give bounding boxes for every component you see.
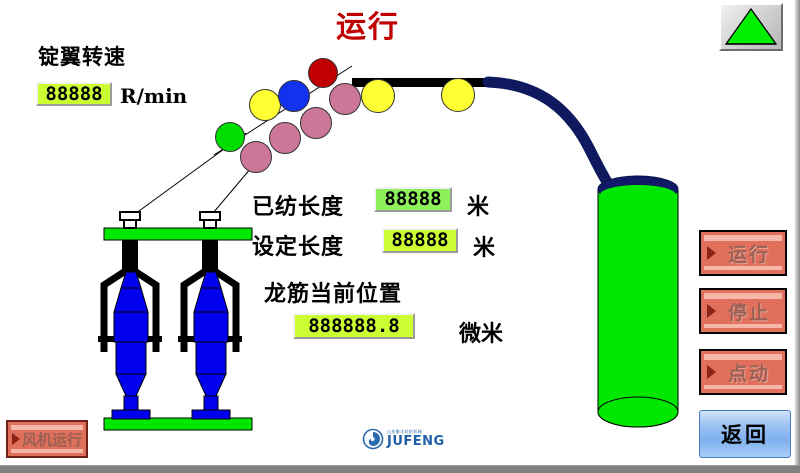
spun-length-unit: 米 <box>467 189 489 221</box>
jufeng-swirl-icon <box>362 428 384 450</box>
window-bottom-edge <box>0 465 800 473</box>
flyer-speed-unit: R/min <box>120 84 187 108</box>
flyer-frame-spindles <box>98 212 252 430</box>
rib-position-unit: 微米 <box>459 316 503 348</box>
flyer-speed-field[interactable]: 88888 <box>36 82 112 106</box>
up-triangle-button[interactable] <box>719 3 783 51</box>
triangle-up-icon <box>725 8 777 45</box>
run-button-label: 运行 <box>716 240 770 267</box>
set-length-label: 设定长度 <box>252 229 344 261</box>
roller-yellow-3 <box>441 78 475 112</box>
sliver-rope <box>488 82 617 190</box>
rib-position-label: 龙筋当前位置 <box>264 276 402 308</box>
sliver-can <box>598 176 678 427</box>
roller-blue <box>278 80 310 112</box>
spun-length-label: 已纺长度 <box>252 189 344 221</box>
fan-run-button[interactable]: 风机运行 <box>6 420 88 458</box>
spindle-unit-right <box>178 212 242 419</box>
roller-yellow-2 <box>361 79 395 113</box>
rib-position-field[interactable]: 888888.8 <box>293 313 415 339</box>
jufeng-logo-text: 山东聚丰纺织机械 JUFENG <box>387 430 445 448</box>
spindle-unit-left <box>98 212 162 419</box>
roller-green <box>215 122 245 152</box>
button-highlight-bottom <box>704 266 782 270</box>
window-right-edge <box>794 0 800 473</box>
button-highlight-bottom <box>704 385 782 389</box>
stop-button-label: 停止 <box>716 298 770 325</box>
jog-button[interactable]: 点动 <box>699 349 787 395</box>
page-title: 运行 <box>336 2 400 46</box>
button-highlight-bottom <box>11 449 83 453</box>
button-highlight-bottom <box>704 324 782 328</box>
roller-red <box>308 58 338 88</box>
jog-button-label: 点动 <box>716 359 770 386</box>
jufeng-logo: 山东聚丰纺织机械 JUFENG <box>362 428 445 450</box>
set-length-field[interactable]: 88888 <box>382 228 458 253</box>
run-button[interactable]: 运行 <box>699 230 787 276</box>
hmi-screen: 运行 锭翼转速 88888 R/min 已纺长度 88888 米 设定长度 88… <box>0 0 800 473</box>
play-arrow-icon <box>707 304 716 318</box>
stop-button[interactable]: 停止 <box>699 288 787 334</box>
return-button[interactable]: 返回 <box>699 410 791 458</box>
play-arrow-icon <box>707 246 716 260</box>
roller-pink-4 <box>329 83 361 115</box>
return-button-label: 返回 <box>721 419 769 449</box>
set-length-unit: 米 <box>473 230 495 262</box>
roller-pink-3 <box>300 107 332 139</box>
fan-run-button-label: 风机运行 <box>12 429 82 450</box>
play-arrow-icon <box>707 365 716 379</box>
roller-pink-1 <box>240 141 272 173</box>
spun-length-field[interactable]: 88888 <box>374 187 452 212</box>
flyer-speed-label: 锭翼转速 <box>38 41 126 71</box>
roller-yellow-1 <box>249 89 281 121</box>
roller-pink-2 <box>269 122 301 154</box>
jufeng-logo-en: JUFENG <box>387 435 445 448</box>
